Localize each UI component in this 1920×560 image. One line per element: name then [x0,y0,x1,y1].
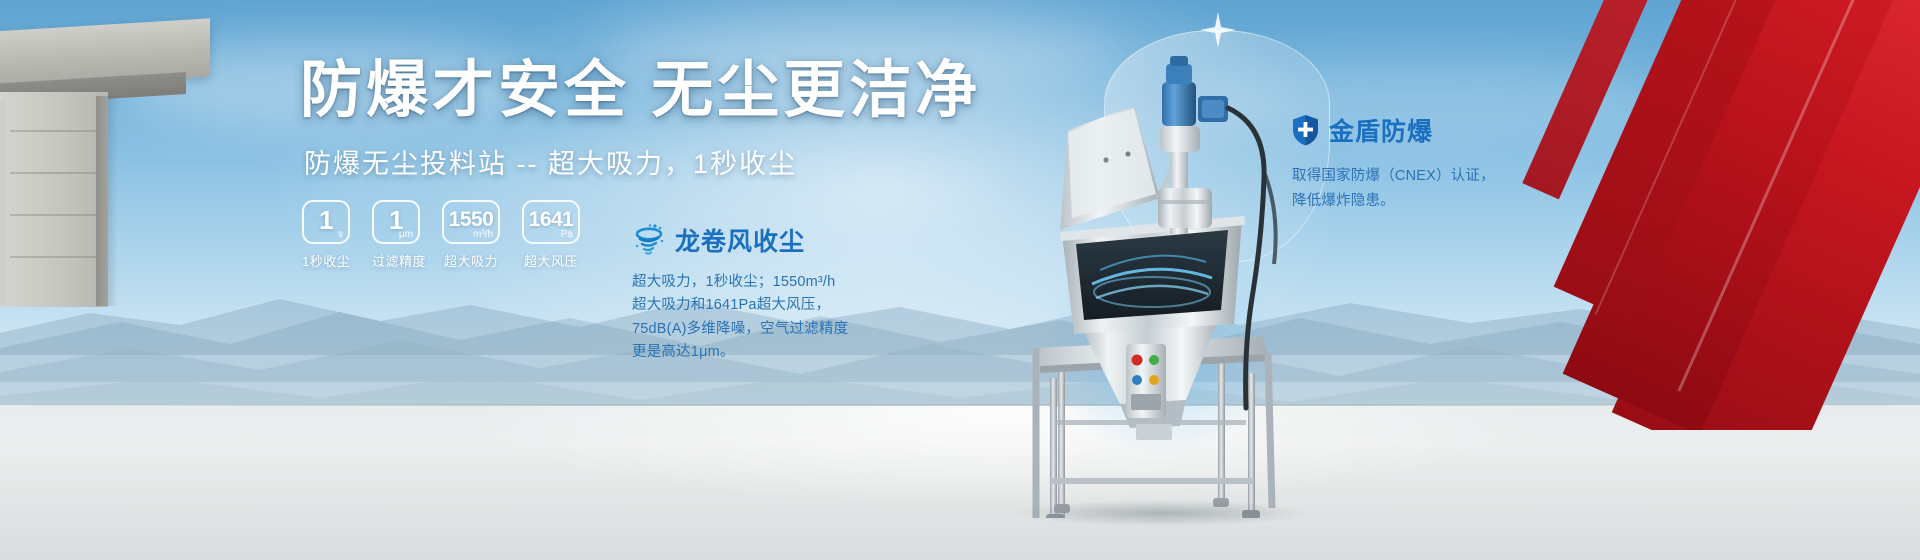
spec-badge-label: 过滤精度 [372,251,420,270]
promo-banner: 防爆才安全 无尘更洁净 防爆无尘投料站 -- 超大吸力，1秒收尘 1 s 1秒收… [0,0,1920,560]
spec-badge-box: 1 μm [372,200,420,244]
feature-tornado-line: 更是高达1μm。 [632,341,882,364]
feature-shield-line: 取得国家防爆（CNEX）认证， [1292,164,1612,189]
spec-badge-box: 1641 Pa [522,200,580,244]
spec-badge-value: 1550 [449,209,494,230]
feature-tornado-line: 超大吸力和1641Pa超大风压， [632,294,882,317]
feeding-station-machine [1010,48,1320,518]
feature-shield-title: 金盾防爆 [1329,112,1433,148]
red-angular-facade [1490,0,1920,430]
feature-tornado-body: 超大吸力，1秒收尘；1550m³/h 超大吸力和1641Pa超大风压， 75dB… [632,271,882,365]
feature-tornado-title: 龙卷风收尘 [675,222,805,258]
spec-badge: 1641 Pa 超大风压 [522,200,580,270]
spec-badge-label: 超大吸力 [442,251,500,270]
feature-shield-header: 金盾防爆 [1292,112,1612,148]
spec-badge-unit: Pa [561,230,573,240]
tornado-icon [632,223,666,257]
spec-badge-box: 1550 m³/h [442,200,500,244]
spec-badge: 1 μm 过滤精度 [372,200,420,270]
spec-badge: 1 s 1秒收尘 [302,200,350,270]
spec-badge-unit: s [338,230,343,240]
spec-badge-unit: μm [399,230,413,240]
page-subtitle: 防爆无尘投料站 -- 超大吸力，1秒收尘 [304,142,797,181]
feature-tornado-header: 龙卷风收尘 [632,222,882,258]
feature-tornado-line: 75dB(A)多维降噪，空气过滤精度 [632,318,882,341]
concrete-overhang [0,0,230,300]
feature-tornado: 龙卷风收尘 超大吸力，1秒收尘；1550m³/h 超大吸力和1641Pa超大风压… [632,222,882,365]
spec-badge-value: 1 [319,207,333,233]
spec-badge-list: 1 s 1秒收尘 1 μm 过滤精度 1550 m³/h 超大吸力 1641 P… [302,200,580,270]
machine-shadow [1012,500,1312,526]
spec-badge-label: 1秒收尘 [302,251,350,270]
feature-tornado-line: 超大吸力，1秒收尘；1550m³/h [632,271,882,294]
spec-badge-value: 1641 [529,209,574,230]
spec-badge-unit: m³/h [473,230,493,240]
spec-badge-box: 1 s [302,200,350,244]
spec-badge: 1550 m³/h 超大吸力 [442,200,500,270]
page-title: 防爆才安全 无尘更洁净 [300,58,981,123]
feature-shield-body: 取得国家防爆（CNEX）认证， 降低爆炸隐患。 [1292,164,1612,214]
spec-badge-label: 超大风压 [522,251,580,270]
feature-shield: 金盾防爆 取得国家防爆（CNEX）认证， 降低爆炸隐患。 [1292,112,1612,214]
shield-icon [1292,114,1319,146]
feature-shield-line: 降低爆炸隐患。 [1292,189,1612,214]
sparkle-icon [1198,10,1238,50]
